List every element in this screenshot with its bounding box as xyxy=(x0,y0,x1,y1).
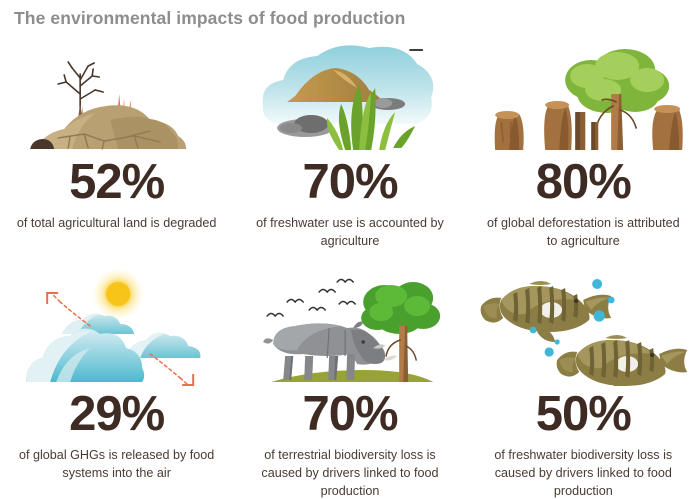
stat-value: 52% xyxy=(69,158,164,208)
stat-caption: of total agricultural land is degraded xyxy=(14,215,219,233)
infographic-page: The environmental impacts of food produc… xyxy=(0,0,700,499)
degraded-land-illustration xyxy=(0,36,233,154)
stat-caption: of terrestrial biodiversity loss is caus… xyxy=(244,447,456,499)
stat-value: 70% xyxy=(302,390,397,440)
fish-biodiversity-illustration xyxy=(467,268,700,386)
stat-value: 50% xyxy=(536,390,631,440)
stat-card-deforestation: 80% of global deforestation is attribute… xyxy=(467,36,700,268)
stat-value: 70% xyxy=(302,158,397,208)
stat-card-degraded-land: 52% of total agricultural land is degrad… xyxy=(0,36,233,268)
stat-card-terrestrial-biodiversity: 70% of terrestrial biodiversity loss is … xyxy=(233,268,466,499)
stat-caption: of global GHGs is released by food syste… xyxy=(11,447,223,483)
stat-card-freshwater-biodiversity: 50% of freshwater biodiversity loss is c… xyxy=(467,268,700,499)
stat-value: 29% xyxy=(69,390,164,440)
page-title: The environmental impacts of food produc… xyxy=(14,8,405,29)
freshwater-lake-illustration xyxy=(233,36,466,154)
stat-card-freshwater-use: 70% of freshwater use is accounted by ag… xyxy=(233,36,466,268)
stat-caption: of freshwater biodiversity loss is cause… xyxy=(477,447,689,499)
greenhouse-gas-clouds-illustration xyxy=(0,268,233,386)
stat-value: 80% xyxy=(536,158,631,208)
deforestation-stumps-illustration xyxy=(467,36,700,154)
stat-caption: of global deforestation is attributed to… xyxy=(481,215,686,251)
stat-card-greenhouse-gases: 29% of global GHGs is released by food s… xyxy=(0,268,233,499)
rhino-biodiversity-illustration xyxy=(233,268,466,386)
stats-grid: 52% of total agricultural land is degrad… xyxy=(0,36,700,499)
stat-caption: of freshwater use is accounted by agricu… xyxy=(247,215,452,251)
